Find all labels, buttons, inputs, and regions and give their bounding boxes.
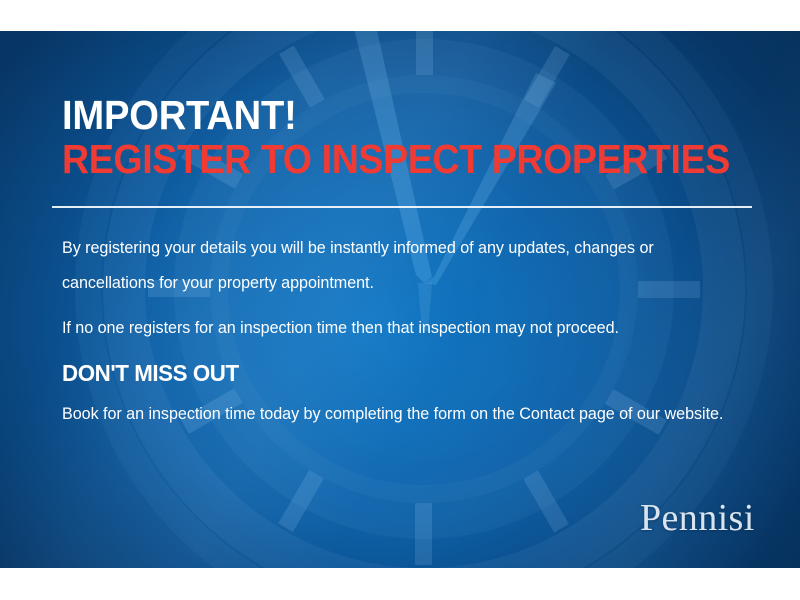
headline-divider (52, 206, 752, 208)
body-paragraph-2: If no one registers for an inspection ti… (62, 311, 742, 346)
poster-blue-panel: IMPORTANT! REGISTER TO INSPECT PROPERTIE… (0, 31, 800, 568)
subheading-dont-miss-out: DON'T MISS OUT (62, 360, 239, 386)
body-paragraph-1: By registering your details you will be … (62, 231, 742, 301)
headline-primary: IMPORTANT! (62, 93, 297, 137)
poster-content: IMPORTANT! REGISTER TO INSPECT PROPERTIE… (62, 31, 762, 568)
body-paragraph-3: Book for an inspection time today by com… (62, 397, 742, 432)
headline-secondary: REGISTER TO INSPECT PROPERTIES (62, 137, 730, 181)
poster-canvas: IMPORTANT! REGISTER TO INSPECT PROPERTIE… (0, 0, 800, 600)
brand-logo-pennisi: Pennisi (640, 497, 755, 539)
